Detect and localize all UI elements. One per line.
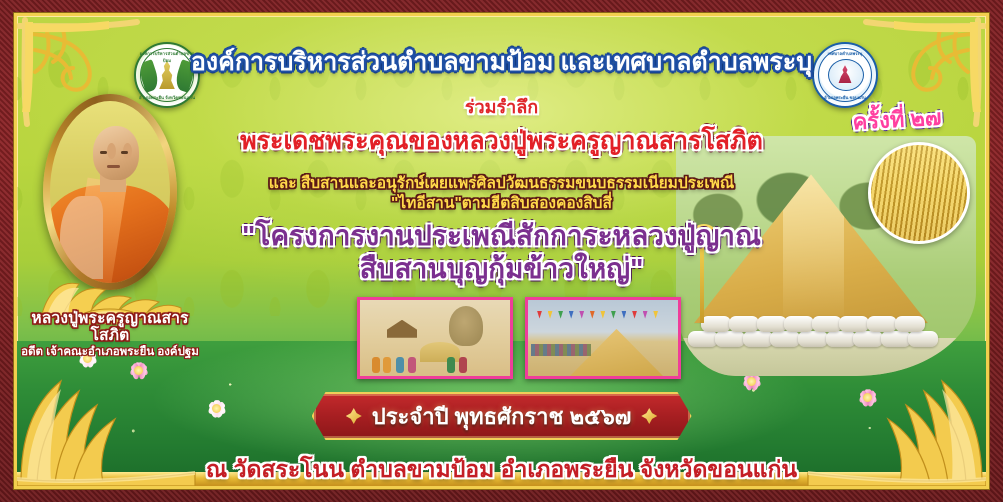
year-text: ประจำปี พุทธศักราช ๒๕๖๗ — [372, 399, 632, 434]
monk-role: อดีต เจ้าคณะอำเภอพระยืน องค์ปฐม — [21, 346, 199, 358]
rice-mound-festival-photo — [525, 297, 681, 379]
photo-strip — [357, 297, 681, 379]
monk-caption: หลวงปู่พระครูญาณสารโสภิต อดีต เจ้าคณะอำเ… — [21, 311, 199, 358]
rice-sacks — [682, 299, 958, 347]
ribbon-gem-icon — [641, 408, 657, 424]
event-banner: หลวงปู่พระครูญาณสารโสภิต อดีต เจ้าคณะอำเ… — [0, 0, 1003, 502]
project-line-2: สืบสานบุญกุ้มข้าวใหญ่" — [17, 252, 986, 285]
edition-badge: ครั้งที่ ๒๗ — [825, 98, 969, 140]
preserve-lines: และ สืบสานและอนุรักษ์เผยแพร่ศิลปวัฒนธรรม… — [17, 174, 986, 214]
project-title: "โครงการงานประเพณีสักการะหลวงปู่ญาณ สืบส… — [17, 219, 986, 285]
organizer-line: องค์การบริหารส่วนตำบลขามป้อม และเทศบาลตำ… — [17, 48, 986, 76]
preserve-line-2: "ไทอีสาน"ตามฮีตสิบสองคองสิบสี่ — [17, 194, 986, 214]
year-ribbon: ประจำปี พุทธศักราช ๒๕๖๗ — [312, 392, 692, 440]
banner-stage: หลวงปู่พระครูญาณสารโสภิต อดีต เจ้าคณะอำเ… — [14, 13, 989, 489]
mural-village-scene — [357, 297, 513, 379]
project-line-1: "โครงการงานประเพณีสักการะหลวงปู่ญาณ — [17, 219, 986, 252]
ribbon-gem-icon — [346, 408, 362, 424]
venue-line: ณ วัดสระโนน ตำบลขามป้อม อำเภอพระยืน จังห… — [17, 452, 986, 488]
preserve-line-1: และ สืบสานและอนุรักษ์เผยแพร่ศิลปวัฒนธรรม… — [17, 174, 986, 194]
monk-name: หลวงปู่พระครูญาณสารโสภิต — [21, 311, 199, 344]
